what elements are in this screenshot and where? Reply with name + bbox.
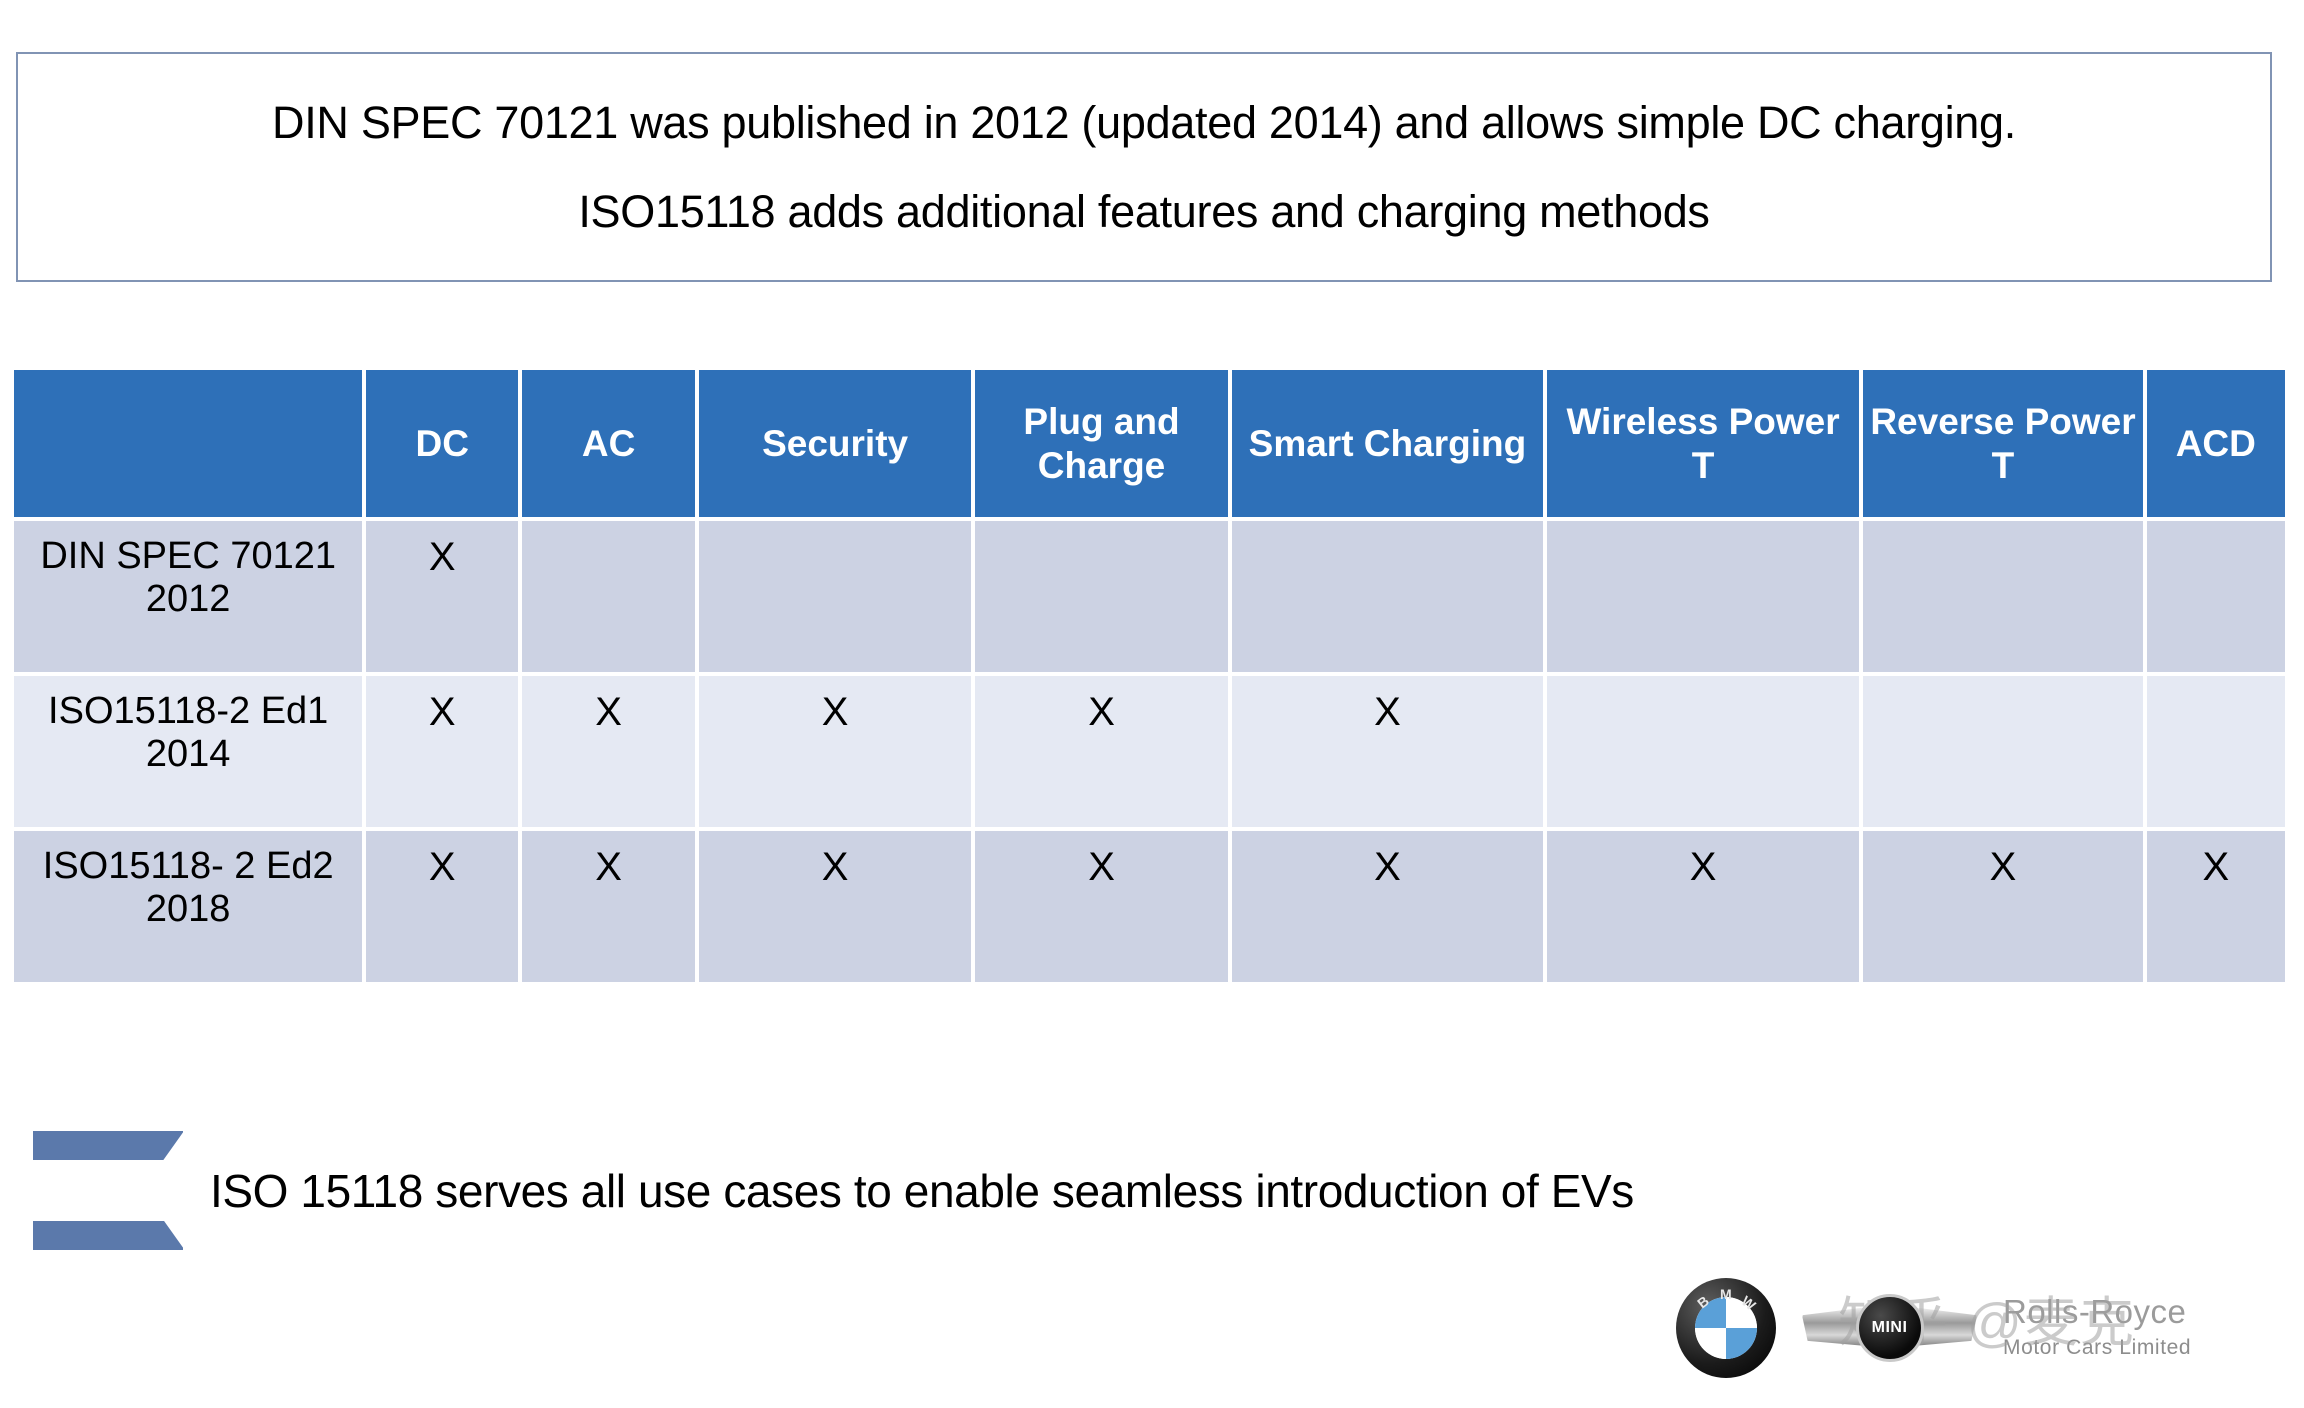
cell-din-acd (2147, 521, 2285, 676)
column-header-blank (14, 370, 366, 521)
row-label-iso15118-2-ed2: ISO15118- 2 Ed2 2018 (14, 831, 366, 986)
column-header-dc-label: DC (366, 370, 518, 517)
standards-comparison-table: DC AC Security Plug and Charge Smart Cha… (14, 370, 2285, 986)
mini-logo-icon: MINI (1802, 1287, 1977, 1369)
bmw-letter-m: M (1720, 1286, 1732, 1302)
cell-ed1-security: X (699, 676, 975, 831)
bmw-letter-b: B (1694, 1292, 1712, 1311)
table-row: DIN SPEC 70121 2012 X (14, 521, 2285, 676)
column-header-ac: AC (522, 370, 699, 521)
right-arrow-icon-cutout (33, 1160, 183, 1221)
cell-ed2-dc: X (366, 831, 522, 986)
cell-ed1-ac: X (522, 676, 699, 831)
column-header-ac-label: AC (522, 370, 695, 517)
cell-din-plug-and-charge (975, 521, 1232, 676)
rolls-royce-logo-icon: Rolls-Royce Motor Cars Limited (2003, 1295, 2253, 1360)
bmw-ring-text: B M W (1676, 1278, 1776, 1378)
rolls-royce-subtitle: Motor Cars Limited (2003, 1336, 2253, 1360)
column-header-plug-and-charge: Plug and Charge (975, 370, 1232, 521)
cell-ed2-wireless-power-t: X (1547, 831, 1864, 986)
row-label-line-2: 2018 (14, 888, 362, 931)
row-label-iso15118-2-ed1: ISO15118-2 Ed1 2014 (14, 676, 366, 831)
bmw-logo-icon: B M W (1676, 1278, 1776, 1378)
row-label-line-2: 2014 (14, 733, 362, 776)
title-line-2: ISO15118 adds additional features and ch… (578, 188, 1709, 235)
cell-ed1-wireless-power-t (1547, 676, 1864, 831)
rolls-royce-wordmark: Rolls-Royce (2003, 1295, 2253, 1328)
row-label-line-1: ISO15118-2 Ed1 (14, 690, 362, 733)
cell-ed2-acd: X (2147, 831, 2285, 986)
column-header-acd: ACD (2147, 370, 2285, 521)
row-label-line-2: 2012 (14, 578, 362, 621)
mini-disc: MINI (1856, 1294, 1924, 1362)
column-header-plug-and-charge-label: Plug and Charge (975, 370, 1228, 517)
column-header-dc: DC (366, 370, 522, 521)
column-header-smart-charging: Smart Charging (1232, 370, 1547, 521)
conclusion-text: ISO 15118 serves all use cases to enable… (210, 1164, 1634, 1218)
brand-logo-strip: B M W MINI Rolls-Royce Motor Cars Limite… (1676, 1265, 2276, 1390)
cell-din-dc: X (366, 521, 522, 676)
column-header-reverse-power-t-label: Reverse Power T (1863, 370, 2142, 517)
column-header-wireless-power-t: Wireless Power T (1547, 370, 1864, 521)
cell-ed2-reverse-power-t: X (1863, 831, 2146, 986)
cell-din-wireless-power-t (1547, 521, 1864, 676)
cell-ed2-smart-charging: X (1232, 831, 1547, 986)
row-label-din-spec-70121: DIN SPEC 70121 2012 (14, 521, 366, 676)
cell-ed1-acd (2147, 676, 2285, 831)
title-line-1: DIN SPEC 70121 was published in 2012 (up… (272, 99, 2016, 146)
cell-ed1-plug-and-charge: X (975, 676, 1232, 831)
column-header-reverse-power-t: Reverse Power T (1863, 370, 2146, 521)
conclusion-callout: ISO 15118 serves all use cases to enable… (33, 1131, 1634, 1250)
column-header-blank-label (14, 370, 362, 517)
title-callout-box: DIN SPEC 70121 was published in 2012 (up… (16, 52, 2272, 282)
column-header-security-label: Security (699, 370, 971, 517)
column-header-smart-charging-label: Smart Charging (1232, 370, 1543, 517)
table-header-row: DC AC Security Plug and Charge Smart Cha… (14, 370, 2285, 521)
table-head: DC AC Security Plug and Charge Smart Cha… (14, 370, 2285, 521)
cell-din-reverse-power-t (1863, 521, 2146, 676)
cell-ed1-reverse-power-t (1863, 676, 2146, 831)
row-label-line-1: ISO15118- 2 Ed2 (14, 845, 362, 888)
cell-din-smart-charging (1232, 521, 1547, 676)
cell-ed2-security: X (699, 831, 975, 986)
cell-ed1-dc: X (366, 676, 522, 831)
table-row: ISO15118-2 Ed1 2014 X X X X X (14, 676, 2285, 831)
table-row: ISO15118- 2 Ed2 2018 X X X X X X X X (14, 831, 2285, 986)
column-header-security: Security (699, 370, 975, 521)
cell-din-ac (522, 521, 699, 676)
cell-ed1-smart-charging: X (1232, 676, 1547, 831)
cell-din-security (699, 521, 975, 676)
cell-ed2-ac: X (522, 831, 699, 986)
row-label-line-1: DIN SPEC 70121 (14, 535, 362, 578)
mini-wordmark: MINI (1872, 1319, 1908, 1337)
right-arrow-icon (33, 1131, 183, 1250)
cell-ed2-plug-and-charge: X (975, 831, 1232, 986)
bmw-letter-w: W (1738, 1292, 1758, 1313)
column-header-acd-label: ACD (2147, 370, 2285, 517)
column-header-wireless-power-t-label: Wireless Power T (1547, 370, 1860, 517)
table-body: DIN SPEC 70121 2012 X ISO15118-2 Ed1 201… (14, 521, 2285, 986)
